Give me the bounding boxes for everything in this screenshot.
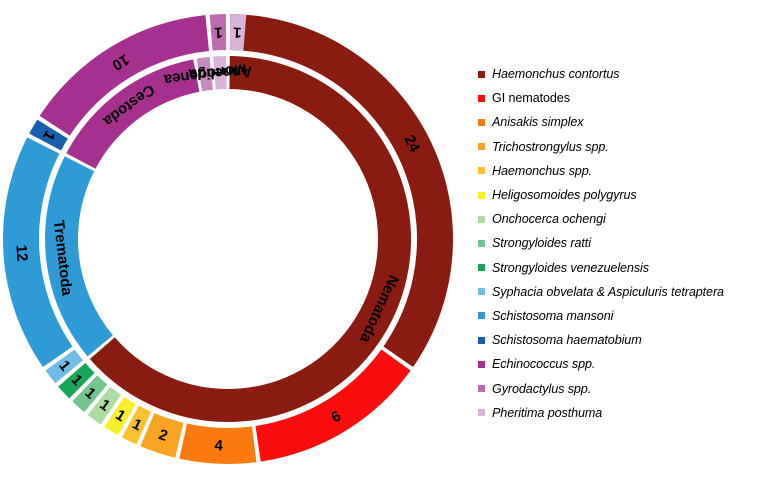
legend-item[interactable]: Onchocerca ochengi xyxy=(470,207,763,231)
legend-swatch-icon xyxy=(478,240,485,247)
legend-swatch-icon xyxy=(478,167,485,174)
legend-item[interactable]: Syphacia obvelata & Aspiculuris tetrapte… xyxy=(470,280,763,304)
legend-swatch-icon xyxy=(478,264,485,271)
legend-swatch-icon xyxy=(478,192,485,199)
legend-item[interactable]: Pheritima posthuma xyxy=(470,401,763,425)
segment-value-label: 1 xyxy=(233,24,242,41)
legend-item[interactable]: Schistosoma haematobium xyxy=(470,328,763,352)
legend-item[interactable]: Echinococcus spp. xyxy=(470,352,763,376)
legend-item[interactable]: Heligosomoides polygyrus xyxy=(470,183,763,207)
legend-item-label: Heligosomoides polygyrus xyxy=(492,188,637,202)
segment-value-label: 4 xyxy=(214,437,224,454)
legend-swatch-icon xyxy=(478,312,485,319)
legend-item[interactable]: Haemonchus contortus xyxy=(470,62,763,86)
legend-item-label: GI nematodes xyxy=(492,91,570,105)
legend-item-label: Onchocerca ochengi xyxy=(492,212,606,226)
legend-item-label: Schistosoma haematobium xyxy=(492,333,642,347)
legend-item[interactable]: Trichostrongylus spp. xyxy=(470,135,763,159)
legend-swatch-icon xyxy=(478,119,485,126)
legend-item[interactable]: Haemonchus spp. xyxy=(470,159,763,183)
legend-item[interactable]: Schistosoma mansoni xyxy=(470,304,763,328)
legend-swatch-icon xyxy=(478,216,485,223)
legend-item-label: Pheritima posthuma xyxy=(492,406,602,420)
legend-item[interactable]: GI nematodes xyxy=(470,86,763,110)
legend-item[interactable]: Strongyloides ratti xyxy=(470,231,763,255)
legend-swatch-icon xyxy=(478,409,485,416)
legend-item-label: Echinococcus spp. xyxy=(492,357,595,371)
legend-item-label: Anisakis simplex xyxy=(492,115,583,129)
legend-item-label: Gyrodactylus spp. xyxy=(492,382,591,396)
legend-swatch-icon xyxy=(478,143,485,150)
inner-ring-group xyxy=(45,56,411,422)
legend-item-label: Strongyloides venezuelensis xyxy=(492,261,649,275)
segment-value-label: 1 xyxy=(214,24,223,41)
legend: Haemonchus contortusGI nematodesAnisakis… xyxy=(470,62,763,425)
legend-item-label: Haemonchus contortus xyxy=(492,67,620,81)
legend-swatch-icon xyxy=(478,71,485,78)
legend-item-label: Trichostrongylus spp. xyxy=(492,140,609,154)
legend-item-label: Schistosoma mansoni xyxy=(492,309,613,323)
sunburst-chart: NematodaTrematodaCestodaMonogeneaAnnelid… xyxy=(0,0,470,478)
legend-item[interactable]: Gyrodactylus spp. xyxy=(470,376,763,400)
legend-item[interactable]: Anisakis simplex xyxy=(470,110,763,134)
legend-item-label: Strongyloides ratti xyxy=(492,236,591,250)
legend-swatch-icon xyxy=(478,385,485,392)
sunburst-svg: NematodaTrematodaCestodaMonogeneaAnnelid… xyxy=(0,0,470,478)
legend-swatch-icon xyxy=(478,288,485,295)
segment-value-label: 12 xyxy=(12,244,30,262)
legend-swatch-icon xyxy=(478,95,485,102)
legend-item-label: Syphacia obvelata & Aspiculuris tetrapte… xyxy=(492,285,724,299)
legend-item-label: Haemonchus spp. xyxy=(492,164,592,178)
legend-swatch-icon xyxy=(478,337,485,344)
ring-category-label: Annelida xyxy=(188,63,253,83)
legend-item[interactable]: Strongyloides venezuelensis xyxy=(470,256,763,280)
legend-swatch-icon xyxy=(478,361,485,368)
